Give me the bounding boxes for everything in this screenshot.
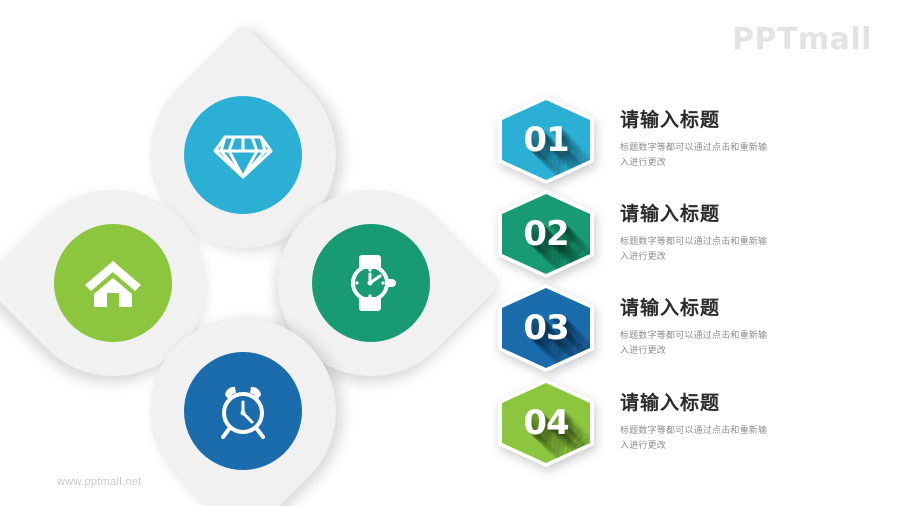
list-item-title: 请输入标题 [620, 109, 870, 133]
list-item[interactable]: 04 请输入标题 标题数字等都可以通过点击和重新输入进行更改 [492, 379, 882, 467]
hexagon-badge-01[interactable]: 01 [498, 96, 594, 184]
home-icon [81, 251, 145, 315]
icon-disc-diamond [184, 96, 302, 214]
icon-disc-alarm-clock [184, 352, 302, 470]
icon-disc-home [54, 224, 172, 342]
hexagon-badge-03[interactable]: 03 [498, 284, 594, 372]
hexagon-badge-04[interactable]: 04 [498, 379, 594, 467]
alarm-clock-icon [211, 379, 275, 443]
numbered-list: 01 请输入标题 标题数字等都可以通过点击和重新输入进行更改 02 请输入标题 … [492, 96, 882, 486]
flower-diagram [20, 62, 460, 482]
pptmall-logo: PPTmall [732, 22, 872, 57]
list-item-text: 请输入标题 标题数字等都可以通过点击和重新输入进行更改 [620, 297, 870, 357]
list-item[interactable]: 01 请输入标题 标题数字等都可以通过点击和重新输入进行更改 [492, 96, 882, 184]
slide-canvas: PPTmall [0, 0, 900, 506]
hexagon-number: 04 [523, 406, 568, 440]
diamond-icon [211, 123, 275, 187]
list-item-description: 标题数字等都可以通过点击和重新输入进行更改 [620, 423, 772, 453]
list-item[interactable]: 03 请输入标题 标题数字等都可以通过点击和重新输入进行更改 [492, 284, 882, 372]
list-item-text: 请输入标题 标题数字等都可以通过点击和重新输入进行更改 [620, 203, 870, 263]
list-item[interactable]: 02 请输入标题 标题数字等都可以通过点击和重新输入进行更改 [492, 190, 882, 278]
wristwatch-icon [339, 251, 403, 315]
list-item-description: 标题数字等都可以通过点击和重新输入进行更改 [620, 234, 772, 264]
hexagon-number: 02 [523, 217, 568, 251]
hexagon-badge-02[interactable]: 02 [498, 190, 594, 278]
list-item-description: 标题数字等都可以通过点击和重新输入进行更改 [620, 140, 772, 170]
list-item-title: 请输入标题 [620, 203, 870, 227]
list-item-title: 请输入标题 [620, 297, 870, 321]
icon-disc-wristwatch [312, 224, 430, 342]
list-item-description: 标题数字等都可以通过点击和重新输入进行更改 [620, 328, 772, 358]
hexagon-number: 03 [523, 311, 568, 345]
list-item-text: 请输入标题 标题数字等都可以通过点击和重新输入进行更改 [620, 392, 870, 452]
hexagon-number: 01 [523, 123, 568, 157]
footer-url: www.pptmall.net [57, 476, 142, 488]
list-item-text: 请输入标题 标题数字等都可以通过点击和重新输入进行更改 [620, 109, 870, 169]
list-item-title: 请输入标题 [620, 392, 870, 416]
